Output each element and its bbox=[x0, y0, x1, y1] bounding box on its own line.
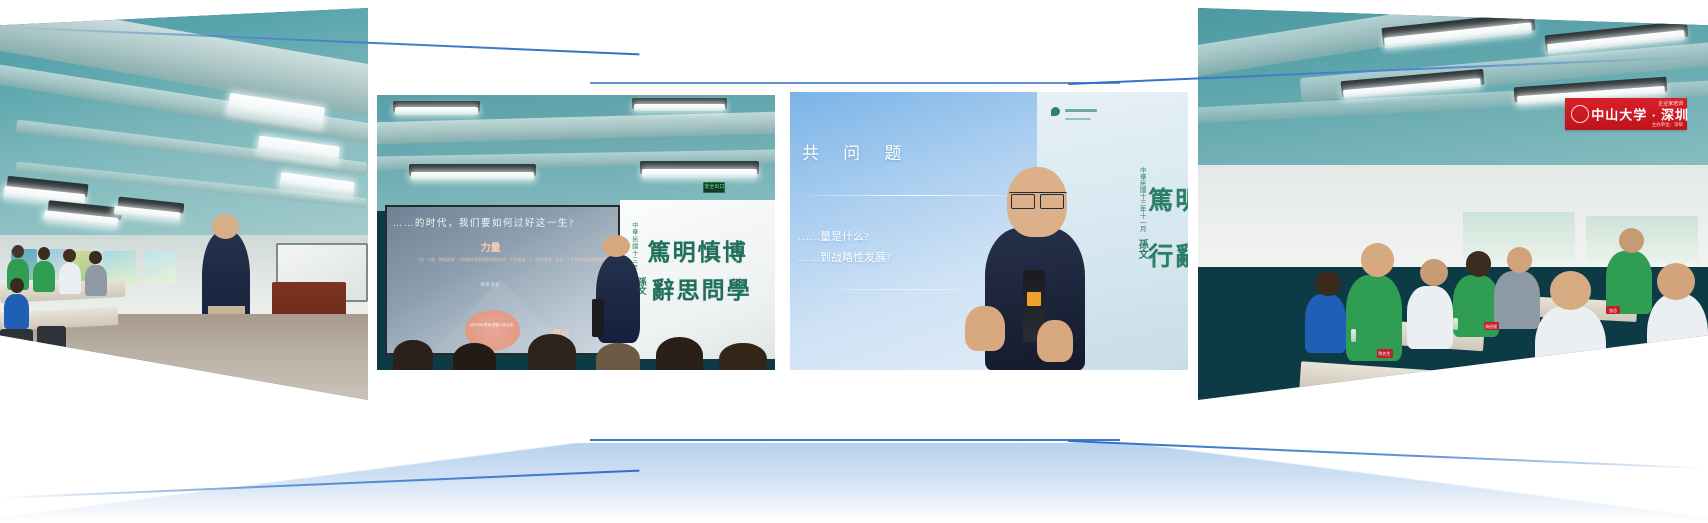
audience-head bbox=[596, 343, 640, 371]
audience-head bbox=[656, 337, 704, 370]
calligraphy-line-2: 辭思問學 bbox=[652, 271, 752, 305]
attendee bbox=[1346, 275, 1402, 361]
attendee bbox=[85, 265, 107, 296]
attendee-head bbox=[1466, 251, 1492, 276]
photo-audience: 企业家培训 中山大学 · 深圳 主办单位：深圳 陈先生 周 bbox=[1198, 8, 1708, 400]
attendee-head bbox=[63, 249, 76, 262]
ceiling-light bbox=[395, 107, 479, 114]
microphone-flag bbox=[1027, 292, 1041, 306]
water-bottle bbox=[1453, 318, 1458, 330]
calligraphy-line-2: 行辭思問學 bbox=[1148, 237, 1188, 273]
attendee-head bbox=[1315, 271, 1341, 296]
slide-headline: 共 问 题 bbox=[802, 139, 912, 164]
attendee bbox=[1305, 294, 1346, 353]
calligraphy-signature: 孫文 bbox=[1134, 239, 1149, 259]
gallery-panel-lecture-slide[interactable]: 安全出口 中華民國十三年十一月 篤明慎博 辭思問學 孫文 ……的时代，我们要如何… bbox=[377, 95, 775, 370]
attendee-head bbox=[1361, 243, 1394, 276]
glasses-right-lens bbox=[1040, 194, 1064, 209]
name-card: 陈先生 bbox=[1377, 349, 1393, 358]
attendee-head bbox=[1657, 263, 1695, 300]
ceiling-light bbox=[642, 169, 757, 177]
chair bbox=[37, 326, 66, 357]
speaker-head bbox=[602, 235, 630, 257]
microphone bbox=[592, 299, 604, 338]
slide-headline: ……的时代，我们要如何过好这一生? bbox=[393, 215, 575, 229]
attendee bbox=[1407, 286, 1453, 349]
gallery-panel-speaker-closeup[interactable]: 数字化集团 共 问 题 ……量是什么? ……到战略性发展? 中華民國十三年十一月… bbox=[790, 92, 1188, 370]
university-seal-icon bbox=[1571, 105, 1589, 123]
speaker-hand-2 bbox=[1037, 320, 1073, 362]
slide-sub-note: ·1年 · 10年 · 终极愿望 · 小时候听到和说到的那句话 · 产业变革 ·… bbox=[417, 257, 607, 263]
slide-node-top: 教育 进化 bbox=[480, 282, 499, 288]
bottom-accent-line-center bbox=[590, 439, 1120, 441]
slide-question-1: ……量是什么? bbox=[798, 228, 869, 244]
slide-label-left: 力量 bbox=[480, 239, 500, 254]
banner-bottom-text: 主办单位：深圳 bbox=[1652, 122, 1684, 128]
slide-divider bbox=[790, 195, 1037, 196]
attendee-head bbox=[1420, 259, 1448, 286]
attendee-head bbox=[89, 251, 102, 264]
slide-center-text: 以终为始 贯通 理懂人间百态 bbox=[469, 323, 514, 328]
floor-reflection-mask-right bbox=[1088, 443, 1708, 523]
photo-lecture-slide: 安全出口 中華民國十三年十一月 篤明慎博 辭思問學 孫文 ……的时代，我们要如何… bbox=[377, 95, 775, 370]
name-card: 张总 bbox=[1606, 306, 1620, 314]
ceiling-light bbox=[634, 104, 726, 111]
speaker-hand bbox=[965, 306, 1005, 350]
gallery-panel-classroom-wide[interactable] bbox=[0, 8, 368, 400]
attendee bbox=[4, 294, 30, 329]
audience-head bbox=[528, 334, 576, 370]
audience-head bbox=[453, 343, 497, 371]
attendee-head bbox=[10, 278, 24, 293]
calligraphy-line-1: 篤明慎博 bbox=[648, 233, 748, 267]
logo-wordmark-line bbox=[1065, 109, 1097, 112]
top-accent-line-center bbox=[590, 82, 1120, 84]
attendee bbox=[59, 263, 81, 294]
floor-reflection-mask-left bbox=[0, 443, 620, 523]
calligraphy-line-1: 篤明慎審博 bbox=[1148, 181, 1188, 217]
photo-classroom-wide bbox=[0, 8, 368, 400]
attendee-head bbox=[1507, 247, 1533, 272]
chair bbox=[0, 329, 33, 364]
gallery-panel-audience[interactable]: 企业家培训 中山大学 · 深圳 主办单位：深圳 陈先生 周 bbox=[1198, 8, 1708, 400]
photo-speaker-closeup: 数字化集团 共 问 题 ……量是什么? ……到战略性发展? 中華民國十三年十一月… bbox=[790, 92, 1188, 370]
logo-icon bbox=[1051, 107, 1060, 116]
attendee bbox=[1494, 271, 1540, 330]
slide-question-2: ……到战略性发展? bbox=[798, 249, 891, 265]
attendee-head bbox=[1619, 228, 1645, 253]
audience-head bbox=[393, 340, 433, 370]
water-bottle bbox=[1519, 361, 1525, 375]
name-card: 周经理 bbox=[1484, 322, 1499, 330]
attendee-front bbox=[1535, 306, 1606, 400]
event-banner: 企业家培训 中山大学 · 深圳 主办单位：深圳 bbox=[1565, 98, 1687, 130]
attendee bbox=[33, 261, 55, 292]
calligraphy-vertical-right: 中華民國十三年十一月 bbox=[1136, 167, 1146, 232]
water-bottle bbox=[1351, 329, 1356, 342]
wall-poster bbox=[144, 251, 177, 284]
attendee-front bbox=[1647, 294, 1708, 392]
photo-gallery-stage: 安全出口 中華民國十三年十一月 篤明慎博 辭思問學 孫文 ……的时代，我们要如何… bbox=[0, 0, 1708, 523]
attendee-head bbox=[1550, 271, 1591, 310]
exit-sign: 安全出口 bbox=[703, 182, 725, 193]
banner-main-text: 中山大学 · 深圳 bbox=[1591, 105, 1689, 124]
audience-head bbox=[719, 343, 767, 371]
glasses-left-lens bbox=[1011, 194, 1035, 209]
desk-row-front bbox=[1299, 361, 1525, 400]
attendee bbox=[1606, 251, 1652, 314]
ceiling-light bbox=[411, 172, 534, 180]
